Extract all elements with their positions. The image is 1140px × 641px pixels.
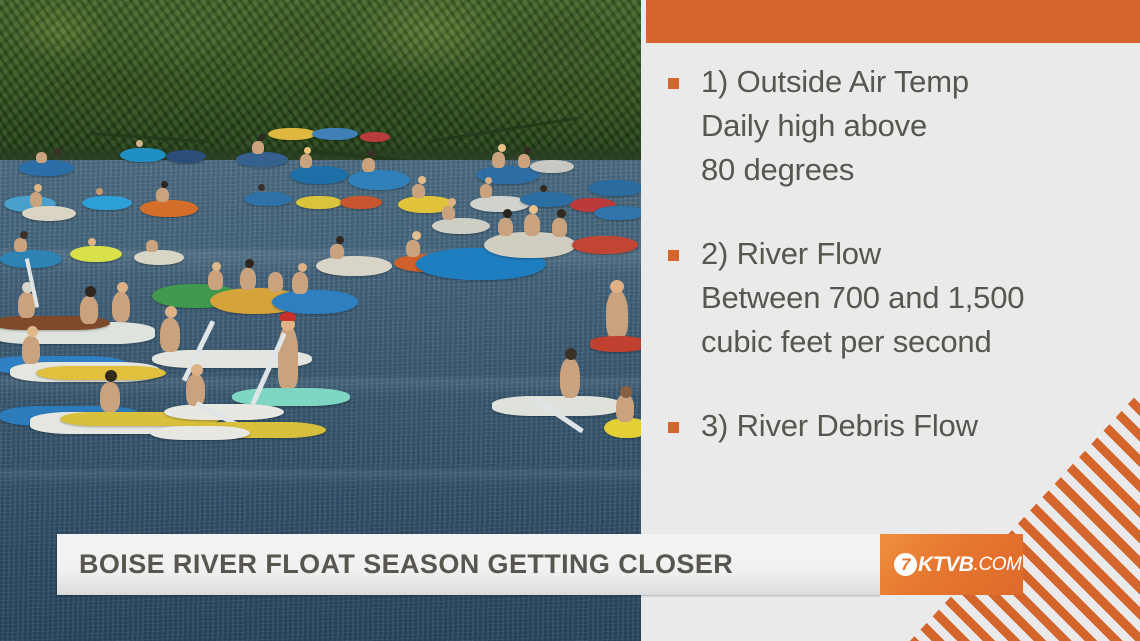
floater-person	[252, 141, 264, 154]
floater-head	[620, 386, 632, 398]
floater-head	[258, 184, 265, 191]
floater-person	[268, 272, 283, 292]
floater-tube	[140, 200, 198, 217]
floater-person	[100, 382, 120, 412]
floater-head	[540, 185, 547, 192]
logo-text: 7 KTVB .COM	[894, 553, 1022, 577]
floater-person	[362, 158, 375, 172]
logo-domain-suffix: .COM	[974, 554, 1022, 576]
floater-tube	[244, 192, 292, 206]
floater-person	[146, 240, 158, 252]
headline-text: BOISE RIVER FLOAT SEASON GETTING CLOSER	[79, 534, 733, 595]
floater-tube	[530, 160, 574, 173]
floater-head	[304, 147, 311, 154]
floater-person	[442, 206, 455, 220]
bullet-1-line-3: 80 degrees	[665, 148, 1135, 192]
floater-person	[208, 270, 223, 290]
ktvb-logo[interactable]: 7 KTVB .COM	[880, 534, 1023, 595]
floater-tube	[268, 128, 316, 140]
floater-tube	[82, 196, 132, 210]
treeline	[0, 0, 643, 172]
floater-head	[34, 184, 42, 192]
floater-tube	[236, 152, 288, 167]
floater-head	[524, 147, 531, 154]
logo-callsign: KTVB	[918, 553, 974, 577]
panel-top-accent-bar	[646, 0, 1140, 43]
floater-head	[412, 231, 421, 240]
floater-head	[54, 148, 61, 155]
floater-head	[105, 370, 117, 382]
floater-tube	[316, 256, 392, 276]
floater-head	[88, 238, 96, 246]
floater-tube	[70, 246, 122, 262]
floater-person	[14, 238, 27, 252]
floater-person	[560, 358, 580, 398]
floater-head	[258, 134, 265, 141]
floater-tube	[22, 206, 76, 221]
floater-tube	[348, 170, 410, 190]
bullet-1-line-2: Daily high above	[665, 104, 1135, 148]
floater-head	[245, 259, 254, 268]
floater-tube	[588, 180, 643, 196]
floater-head	[165, 306, 177, 318]
bullet-2-line-3: cubic feet per second	[665, 320, 1135, 364]
floater-head	[565, 348, 577, 360]
floater-person	[406, 240, 420, 257]
paddleboard	[36, 366, 166, 380]
floater-person	[22, 336, 40, 364]
floater-tube	[272, 290, 358, 314]
floater-head	[498, 144, 506, 152]
bullet-list: 1) Outside Air Temp Daily high above 80 …	[665, 60, 1135, 488]
floater-head	[96, 188, 103, 195]
floater-person	[412, 184, 425, 198]
floater-tube	[340, 196, 382, 209]
floater-head	[448, 198, 456, 206]
bullet-block-1: 1) Outside Air Temp Daily high above 80 …	[665, 60, 1135, 192]
floater-head	[610, 280, 624, 293]
floater-tube	[290, 166, 348, 184]
broadcast-graphic: 1) Outside Air Temp Daily high above 80 …	[0, 0, 1140, 641]
floater-head	[191, 364, 203, 376]
floater-person	[492, 152, 505, 168]
floater-tube	[572, 236, 638, 254]
floater-head	[503, 209, 512, 218]
floater-head	[136, 140, 143, 147]
floater-head	[298, 263, 307, 272]
floater-head	[529, 205, 538, 214]
floater-person	[552, 218, 567, 237]
floater-tube	[520, 192, 574, 207]
floater-person	[518, 154, 530, 168]
floater-head	[27, 326, 38, 337]
floater-person	[160, 318, 180, 352]
floater-person	[112, 292, 130, 322]
floater-person	[300, 154, 312, 168]
floater-person	[524, 214, 540, 236]
floater-tube	[360, 132, 390, 142]
floater-head	[485, 177, 492, 184]
floater-head	[212, 262, 221, 271]
floater-tube	[312, 128, 358, 140]
standing-paddler	[606, 290, 628, 340]
floater-head	[20, 231, 28, 239]
floater-head	[368, 150, 375, 157]
bullet-block-2: 2) River Flow Between 700 and 1,500 cubi…	[665, 232, 1135, 364]
floater-head	[418, 176, 426, 184]
bullet-2-line-2: Between 700 and 1,500	[665, 276, 1135, 320]
floater-tube	[166, 150, 206, 163]
floater-head	[161, 181, 168, 188]
channel-7-badge: 7	[894, 553, 917, 576]
floater-person	[616, 394, 634, 422]
floater-head	[336, 236, 344, 244]
bullet-2-line-1: 2) River Flow	[665, 232, 1135, 276]
floater-tube	[120, 148, 166, 162]
floater-tube	[296, 196, 342, 209]
lower-third-banner: BOISE RIVER FLOAT SEASON GETTING CLOSER	[57, 534, 880, 595]
floater-head	[557, 209, 566, 218]
floater-person	[330, 244, 344, 259]
water-sheen	[0, 470, 643, 484]
bullet-3-line-1: 3) River Debris Flow	[665, 404, 1135, 448]
floater-head	[117, 282, 128, 293]
bullet-block-3: 3) River Debris Flow	[665, 404, 1135, 448]
floater-person	[480, 184, 492, 198]
floater-person	[240, 268, 256, 290]
floater-tube	[134, 250, 184, 265]
floater-person	[30, 192, 42, 207]
floater-person	[36, 152, 47, 163]
floater-person	[80, 296, 98, 324]
floater-person	[156, 188, 169, 202]
bullet-1-line-1: 1) Outside Air Temp	[665, 60, 1135, 104]
floater-head	[85, 286, 96, 297]
floater-tube	[594, 206, 643, 220]
paddleboard	[150, 426, 250, 440]
floater-person	[292, 272, 308, 294]
red-cap	[280, 312, 296, 321]
floater-tube	[0, 250, 62, 268]
floater-tube	[18, 160, 74, 176]
floater-tube	[432, 218, 490, 234]
floater-person	[186, 374, 205, 406]
floater-person	[498, 218, 513, 236]
paddleboard	[590, 336, 643, 352]
